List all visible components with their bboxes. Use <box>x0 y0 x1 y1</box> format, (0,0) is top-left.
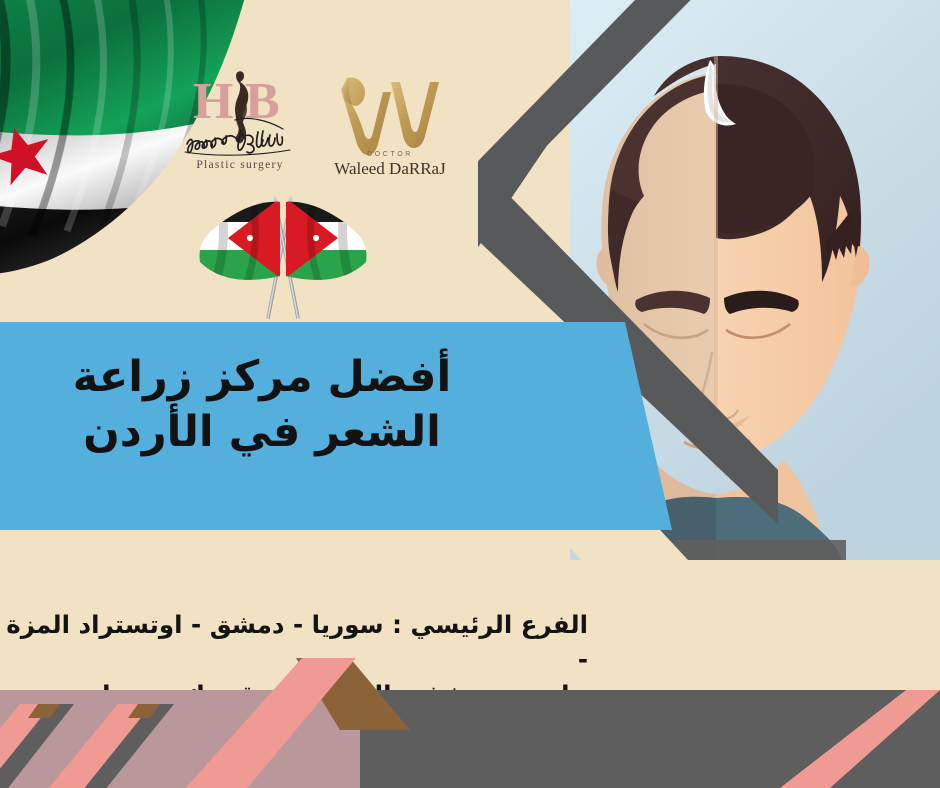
wd-name: Waleed DaRRaJ <box>334 159 446 178</box>
logo-row: H B <box>175 60 455 180</box>
headline-banner: أفضل مركز زراعة الشعر في الأردن <box>0 322 672 530</box>
jordan-flags-crossed <box>188 188 378 320</box>
hb-tagline: Plastic surgery <box>196 159 283 171</box>
jordan-flag-left <box>188 188 288 300</box>
headline-line-2: الشعر في الأردن <box>52 405 472 460</box>
jordan-flag-right <box>278 188 378 300</box>
hb-clinic-logo: H B <box>175 60 305 180</box>
bottom-decoration <box>0 586 940 788</box>
w-monogram <box>341 77 439 155</box>
advertisement-poster: H B <box>0 0 940 788</box>
wd-prefix: DOCTOR <box>367 151 413 158</box>
hb-letter-h: H <box>193 73 233 130</box>
wd-doctor-logo: DOCTOR Waleed DaRRaJ <box>325 60 455 180</box>
hb-letter-b: B <box>245 73 280 130</box>
headline-line-1: أفضل مركز زراعة <box>52 350 472 405</box>
headline-text: أفضل مركز زراعة الشعر في الأردن <box>52 350 472 460</box>
